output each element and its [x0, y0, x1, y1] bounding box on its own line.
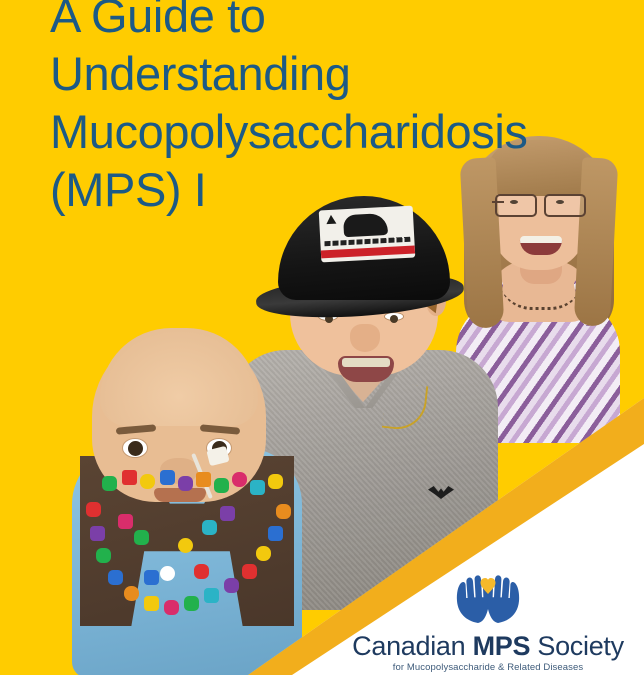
bear-icon — [343, 213, 388, 237]
cover-photograph — [0, 0, 644, 675]
bead — [86, 502, 101, 517]
bead — [144, 570, 159, 585]
bead — [124, 586, 139, 601]
bead — [204, 588, 219, 603]
girl-smile — [520, 236, 562, 255]
bead — [250, 480, 265, 495]
teen-pupil-right — [390, 315, 398, 323]
star-icon — [326, 215, 336, 225]
girl-hair-front — [486, 140, 592, 196]
bead — [134, 530, 149, 545]
cap-patch-red-stripe — [321, 246, 415, 259]
bead — [96, 548, 111, 563]
bead — [178, 476, 193, 491]
bead — [118, 514, 133, 529]
bead — [90, 526, 105, 541]
california-bear-flag-patch — [319, 206, 416, 263]
baby-pupil-left — [128, 441, 143, 456]
bead — [194, 564, 209, 579]
logo-word-canadian: Canadian — [352, 631, 465, 661]
bead — [102, 476, 117, 491]
bead — [276, 504, 291, 519]
bead — [160, 566, 175, 581]
bead — [196, 472, 211, 487]
bead — [268, 526, 283, 541]
cap-patch-text — [324, 237, 410, 246]
bead — [256, 546, 271, 561]
logo-word-mps: MPS — [473, 631, 531, 661]
bead — [268, 474, 283, 489]
photo-subject-baby — [60, 330, 310, 675]
bead — [160, 470, 175, 485]
bead — [178, 538, 193, 553]
bead — [140, 474, 155, 489]
bead — [164, 600, 179, 615]
booklet-cover: A Guide to Understanding Mucopolysacchar… — [0, 0, 644, 675]
logo-wordmark: Canadian MPS Society — [352, 631, 624, 661]
hands-holding-heart-icon — [452, 571, 524, 627]
teen-mouth — [338, 356, 394, 382]
teen-nose — [350, 324, 380, 352]
bead — [220, 506, 235, 521]
bead — [224, 578, 239, 593]
bead — [122, 470, 137, 485]
teen-teeth — [342, 358, 390, 367]
baby-forehead — [100, 328, 258, 426]
bead — [144, 596, 159, 611]
bead — [214, 478, 229, 493]
bead — [184, 596, 199, 611]
girl-eyeglasses — [492, 194, 586, 214]
bead — [232, 472, 247, 487]
bead — [202, 520, 217, 535]
logo-word-society: Society — [537, 631, 623, 661]
bravery-bead-necklace — [74, 468, 298, 618]
logo-tagline: for Mucopolysaccharide & Related Disease… — [352, 662, 624, 673]
bead — [242, 564, 257, 579]
bead — [108, 570, 123, 585]
